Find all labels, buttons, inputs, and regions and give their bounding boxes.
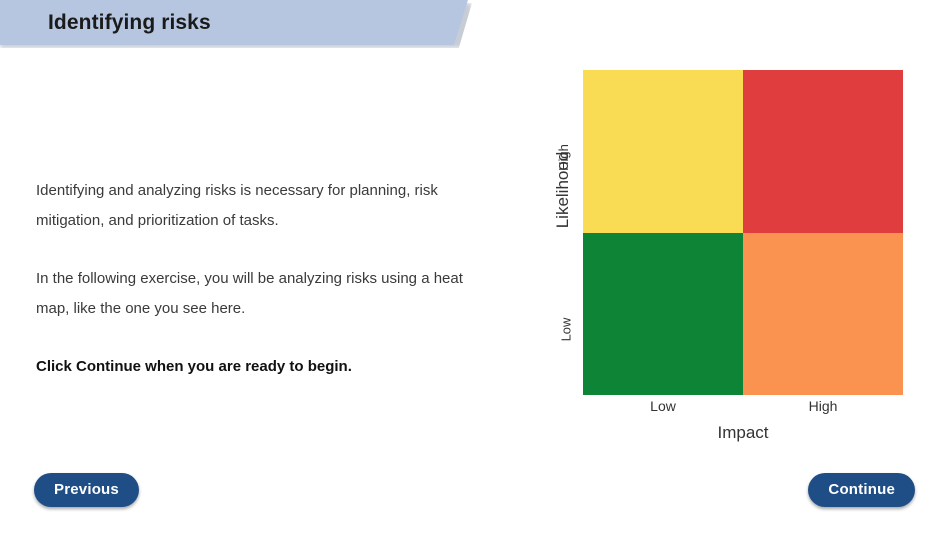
- slide-body-text: Identifying and analyzing risks is neces…: [36, 176, 486, 382]
- risk-heat-map: Likelihood High Low Low High Impact: [516, 60, 916, 450]
- paragraph-call-to-action: Click Continue when you are ready to beg…: [36, 352, 486, 382]
- heatmap-cell-high-impact-low-likelihood[interactable]: [743, 233, 903, 396]
- y-axis-title: Likelihood: [553, 100, 573, 280]
- x-axis-title: Impact: [583, 423, 903, 443]
- previous-button[interactable]: Previous: [34, 473, 139, 507]
- paragraph-intro: Identifying and analyzing risks is neces…: [36, 176, 486, 236]
- continue-button[interactable]: Continue: [808, 473, 915, 507]
- heatmap-cell-low-impact-low-likelihood[interactable]: [583, 233, 743, 396]
- heatmap-cell-low-impact-high-likelihood[interactable]: [583, 70, 743, 233]
- heatmap-grid: [583, 70, 903, 395]
- x-tick-low: Low: [583, 398, 743, 414]
- slide-title-banner: Identifying risks: [0, 0, 480, 52]
- paragraph-exercise: In the following exercise, you will be a…: [36, 264, 486, 324]
- y-tick-high: High: [556, 144, 571, 171]
- page-title: Identifying risks: [48, 0, 211, 45]
- x-tick-high: High: [743, 398, 903, 414]
- heatmap-cell-high-impact-high-likelihood[interactable]: [743, 70, 903, 233]
- y-tick-low: Low: [558, 318, 573, 342]
